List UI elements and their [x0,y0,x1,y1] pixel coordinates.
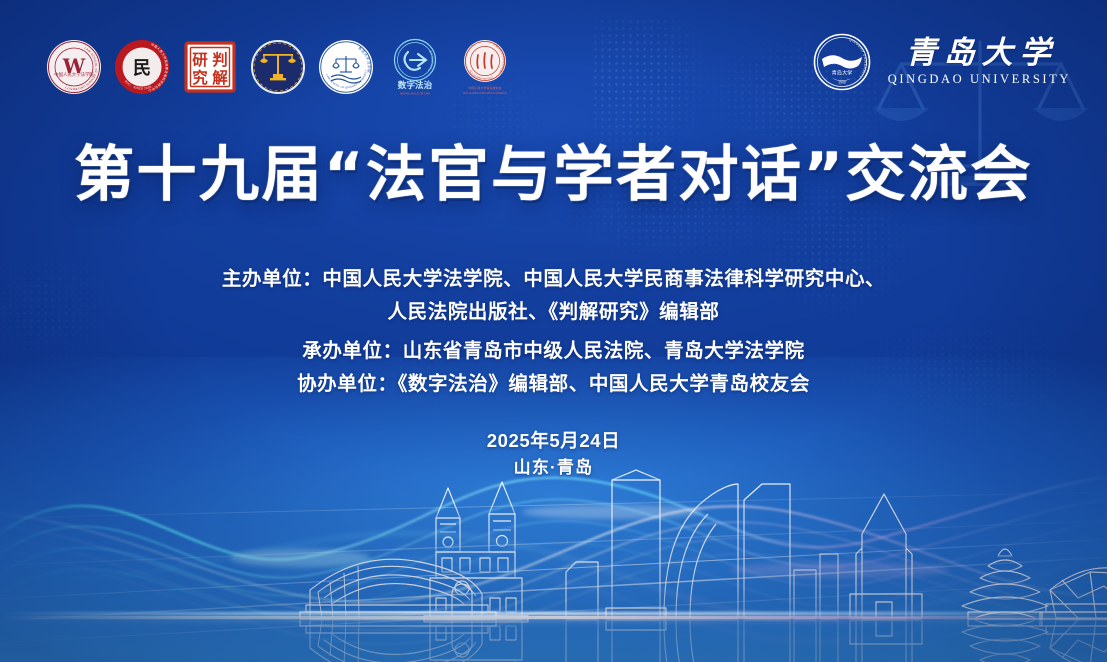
civil-commercial-law-center-logo: 中国人民大学民商事法律科学研究中心 RUC · SINCE 2000 民 [114,39,170,95]
svg-text:民: 民 [133,58,151,79]
qingdao-university-law-school-logo: 青岛大学法学院 LAW SCHOOL OF QINGDAO UNIVERSITY [318,39,374,95]
organizer-line: 主办单位：中国人民大学法学院、中国人民大学民商事法律科学研究中心、 [0,263,1107,296]
horizon-line [0,612,1107,615]
svg-text:1909: 1909 [838,81,846,85]
partner-logo-row: LAW SCHOOL OF RENMIN UNIVERSITY 中国人民大学法学… [46,36,514,98]
svg-text:数字法治: 数字法治 [398,79,433,91]
qingdao-university-lockup: QINGDAO UNIVERSITY 青岛大学 1909 青岛大学 QINGDA… [813,33,1071,91]
svg-text:解: 解 [212,68,228,87]
host-university-name-en: QINGDAO UNIVERSITY [885,72,1071,87]
organizer-line: 承办单位：山东省青岛市中级人民法院、青岛大学法学院 [0,335,1107,368]
svg-text:青岛大学: 青岛大学 [832,69,853,77]
digital-rule-of-law-logo: 数字法治研究中心 数字法治 DIGITAL RULE OF LAW [386,36,444,98]
event-datetime-block: 2025年5月24日 山东·青岛 [0,427,1107,481]
renmin-law-school-logo: LAW SCHOOL OF RENMIN UNIVERSITY 中国人民大学法学… [46,39,102,95]
qingdao-university-seal-icon: QINGDAO UNIVERSITY 青岛大学 1909 [813,33,871,91]
event-date: 2025年5月24日 [0,427,1107,455]
panjie-yanjiu-seal-logo: 研 判 究 解 [182,39,238,95]
svg-text:研: 研 [192,50,208,69]
page-title: 第十九届“法官与学者对话”交流会 [0,142,1107,209]
svg-text:DIGITAL RULE OF LAW: DIGITAL RULE OF LAW [400,92,431,96]
organizer-block: 主办单位：中国人民大学法学院、中国人民大学民商事法律科学研究中心、 人民法院出版… [0,263,1107,401]
svg-text:究: 究 [192,68,208,87]
conference-banner: LAW SCHOOL OF RENMIN UNIVERSITY 中国人民大学法学… [0,0,1107,662]
organizer-line: 协办单位：《数字法治》编辑部、中国人民大学青岛校友会 [0,368,1107,401]
svg-text:中国人民大学青岛校友会: 中国人民大学青岛校友会 [468,85,501,90]
renmin-alumni-qingdao-logo: 中国人民大学青岛校友会 RUC ALUMNI QINGDAO 中国人民大学青岛校… [456,36,514,98]
event-location: 山东·青岛 [0,455,1107,481]
svg-text:判: 判 [212,50,228,69]
svg-text:W: W [62,54,86,78]
svg-text:RUC ALUMNI ASSOCIATION QINGDAO: RUC ALUMNI ASSOCIATION QINGDAO [463,92,507,95]
organizer-line: 人民法院出版社、《判解研究》编辑部 [0,296,1107,329]
host-university-name-cn: 青岛大学 [899,37,1058,70]
peoples-court-press-logo [250,39,306,95]
